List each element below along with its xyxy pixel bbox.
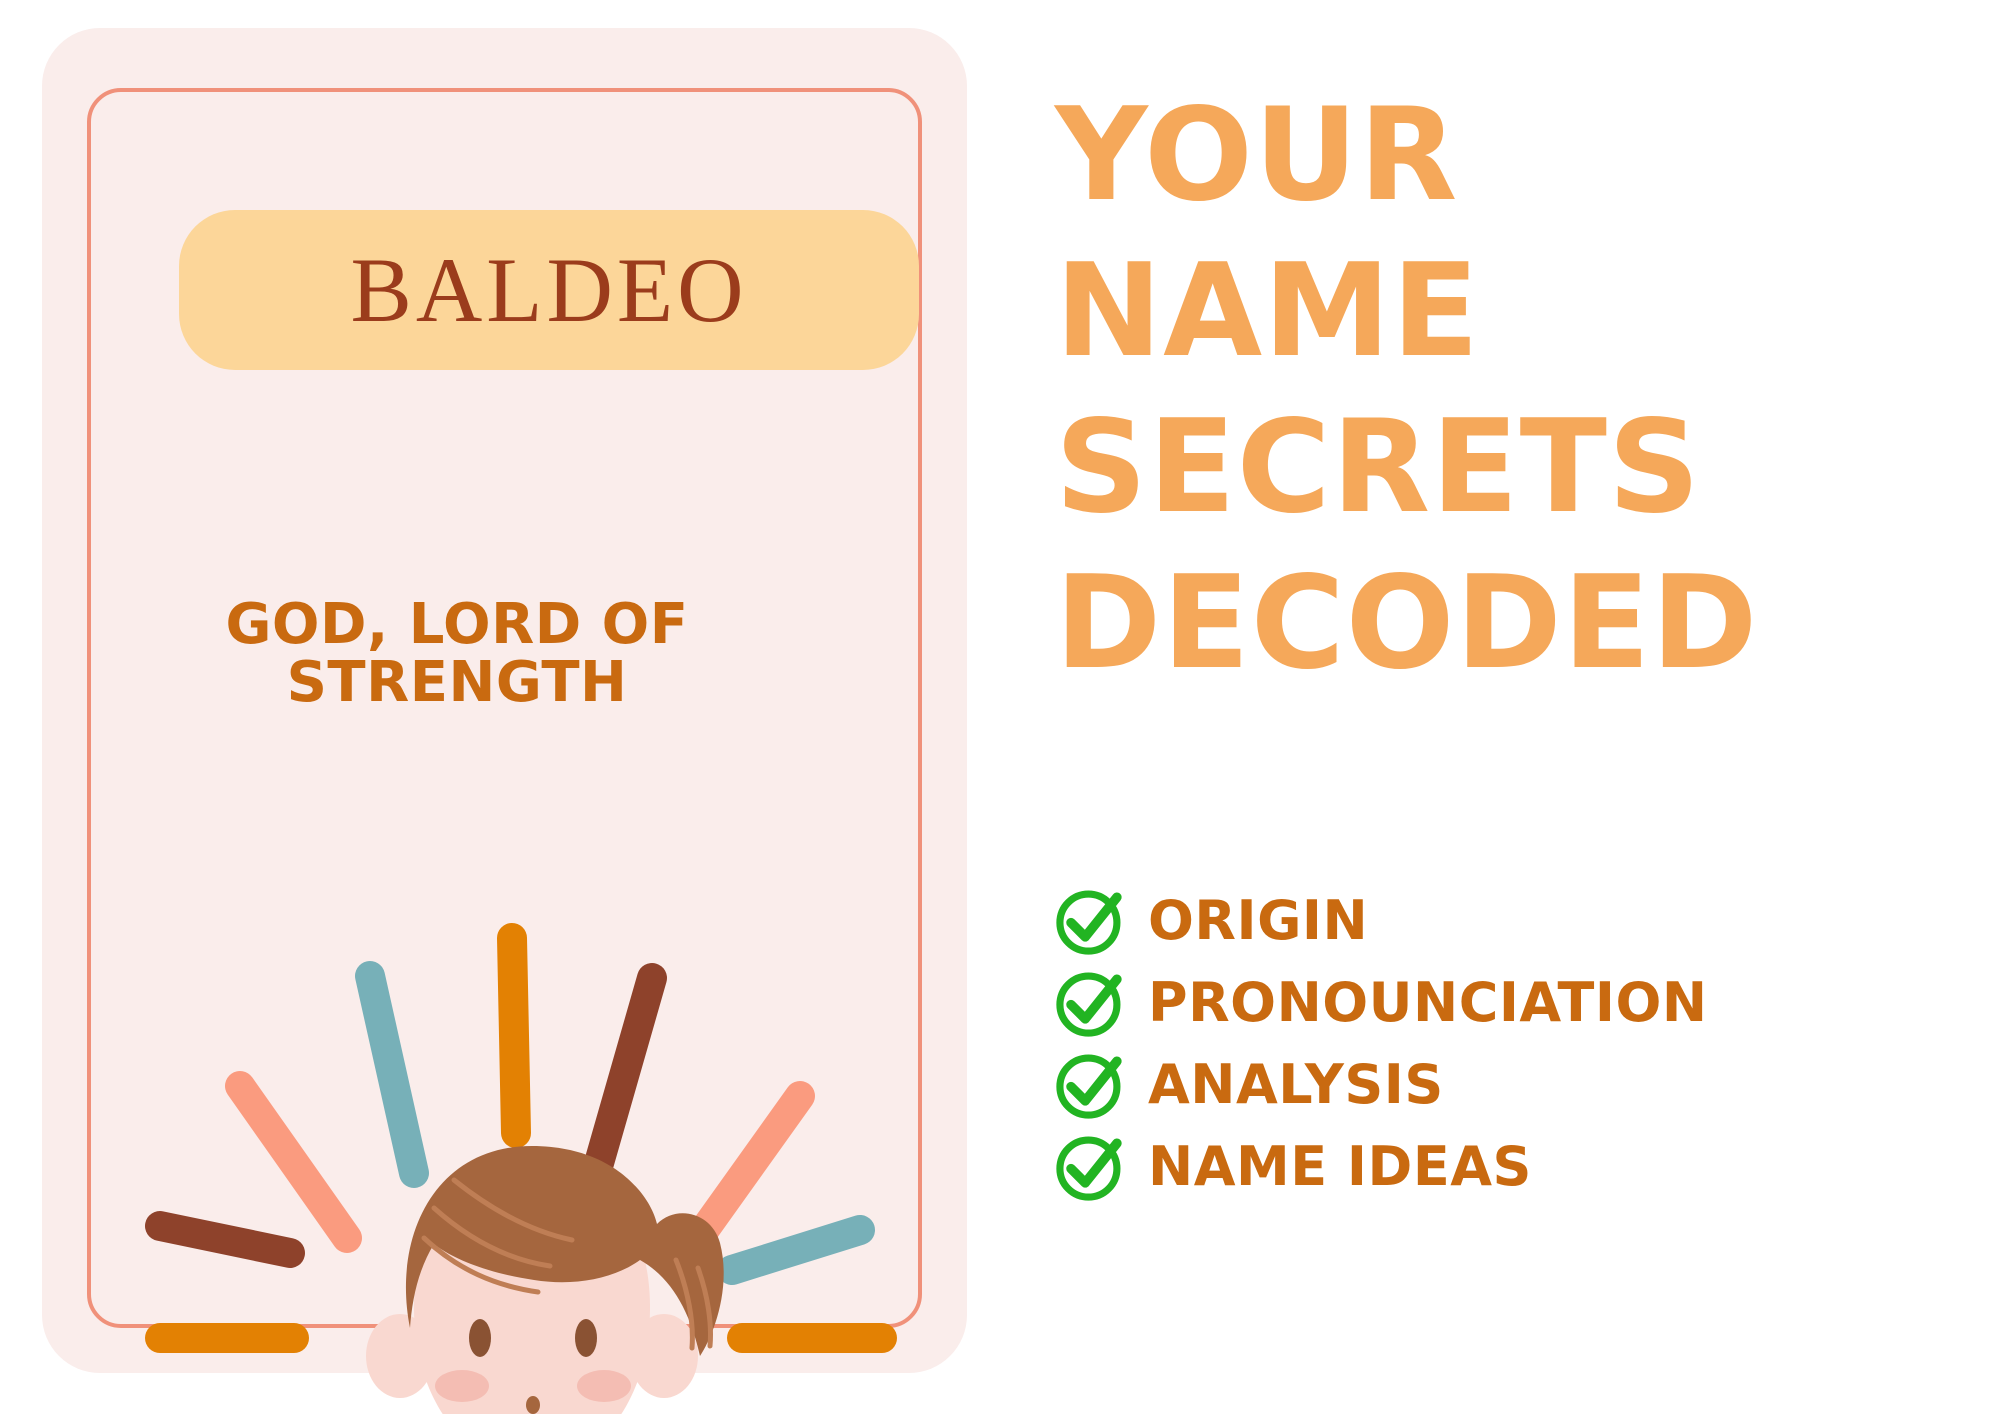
check-circle-icon [1052,883,1128,959]
name-pill: BALDEO [179,210,919,370]
ray-far-left-brown [160,1226,290,1253]
headline-line-1: YOUR [1055,78,1935,234]
checklist-item-label: ANALYSIS [1148,1058,1444,1112]
ray-center-orange [512,938,516,1133]
ray-left-salmon [240,1086,347,1238]
checklist-item-analysis: ANALYSIS [1052,1048,1952,1122]
eye-right [575,1319,597,1357]
check-circle-icon [1052,965,1128,1041]
eye-left [469,1319,491,1357]
name-title: BALDEO [350,244,747,336]
cheek-right [577,1370,631,1402]
checklist-item-origin: ORIGIN [1052,884,1952,958]
checklist-item-name-ideas: NAME IDEAS [1052,1130,1952,1204]
name-card: BALDEO GOD, LORD OF STRENGTH [42,28,967,1373]
ray-right-brown [597,978,652,1170]
headline-line-3: SECRETS [1055,390,1935,546]
feature-checklist: ORIGIN PRONOUNCIATION ANALYSIS [1052,884,1952,1212]
checklist-item-label: PRONOUNCIATION [1148,976,1708,1030]
headline-line-2: NAME [1055,234,1935,390]
poster-canvas: BALDEO GOD, LORD OF STRENGTH [0,0,2000,1414]
cheek-left [435,1370,489,1402]
checklist-item-label: ORIGIN [1148,894,1368,948]
headline-line-4: DECODED [1055,546,1935,702]
nose [526,1396,540,1414]
headline-block: YOUR NAME SECRETS DECODED [1055,78,1935,703]
child-face-with-rays-illustration [142,908,942,1414]
checklist-item-pronounciation: PRONOUNCIATION [1052,966,1952,1040]
ray-left-teal [370,976,414,1173]
check-circle-icon [1052,1047,1128,1123]
ray-right-teal [732,1230,860,1270]
name-meaning: GOD, LORD OF STRENGTH [147,596,767,712]
check-circle-icon [1052,1129,1128,1205]
checklist-item-label: NAME IDEAS [1148,1140,1532,1194]
